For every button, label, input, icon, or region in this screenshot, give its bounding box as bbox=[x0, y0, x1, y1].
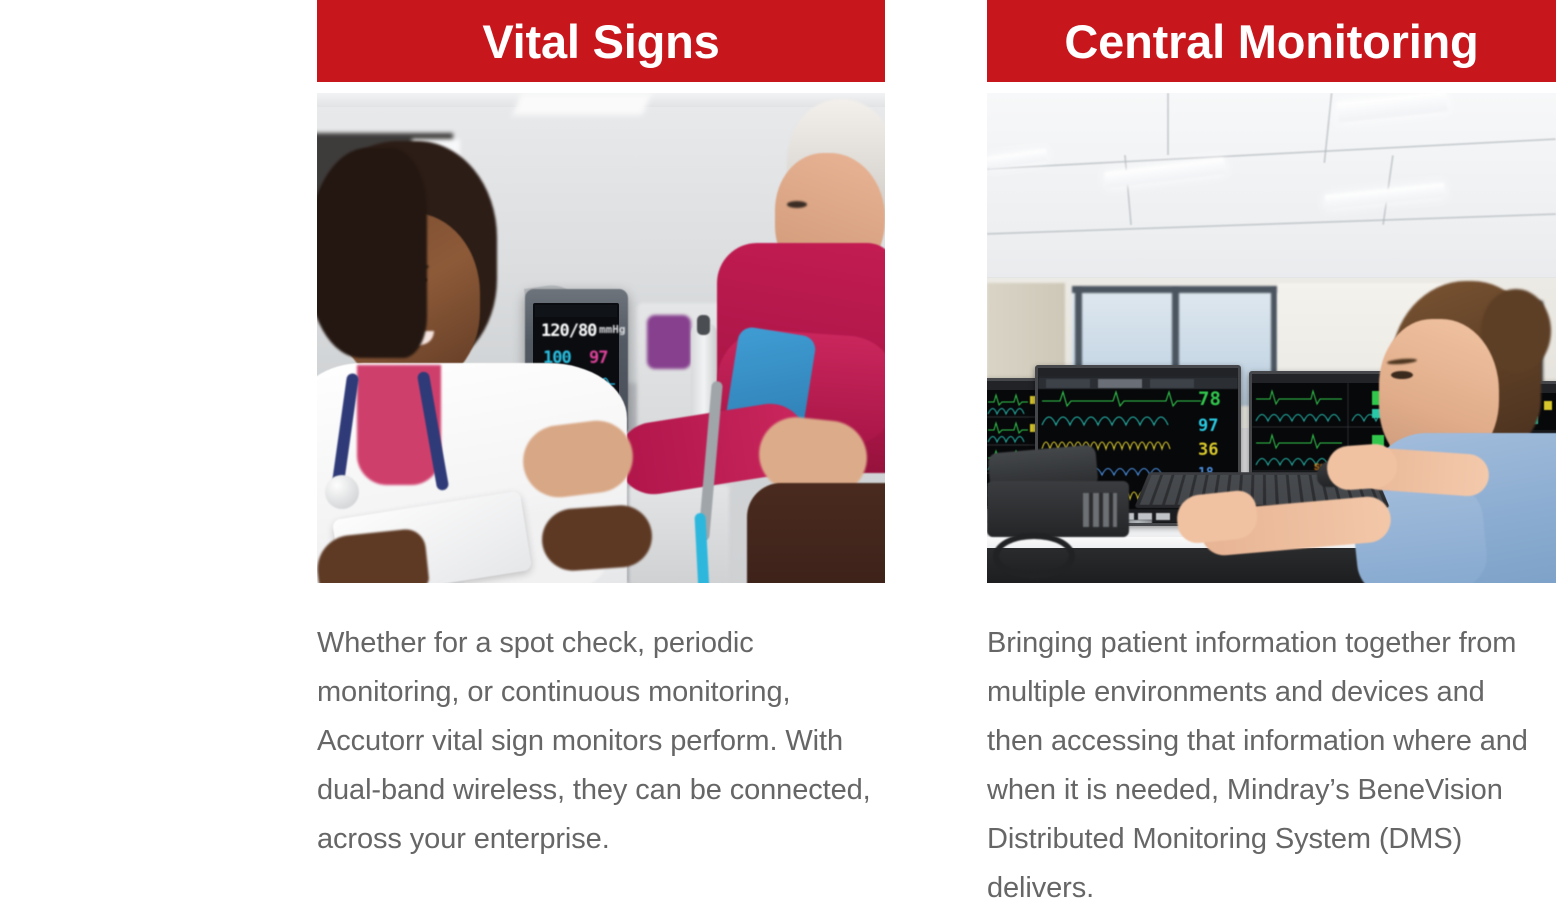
card-central-monitoring: Central Monitoring bbox=[987, 0, 1556, 913]
patient-eye bbox=[787, 201, 807, 208]
desk-phone-cord bbox=[993, 533, 1075, 579]
photo-vital-signs: 120/80 mmHg 100 97 98.6 bbox=[317, 93, 885, 583]
svg-text:78: 78 bbox=[1198, 388, 1221, 410]
nurse-eye bbox=[1391, 371, 1413, 379]
card-header-vital-signs: Vital Signs bbox=[317, 0, 885, 82]
clinician-hair-front bbox=[317, 148, 427, 358]
monitor-title-bar bbox=[1038, 368, 1238, 377]
reading-blood-pressure: 120/80 bbox=[541, 321, 601, 341]
ceiling-tile-line bbox=[1167, 93, 1169, 155]
card-vital-signs: Vital Signs 120/80 mm bbox=[317, 0, 885, 864]
card-title: Central Monitoring bbox=[1064, 18, 1478, 65]
reading-bp-unit: mmHg bbox=[599, 323, 619, 337]
thermometer-tip-icon bbox=[697, 315, 710, 335]
monitor-status-bar bbox=[535, 305, 617, 317]
nurse-hand-on-mouse bbox=[1326, 443, 1399, 492]
desk-phone-keypad bbox=[1083, 493, 1117, 527]
svg-text:36: 36 bbox=[1198, 440, 1218, 460]
card-title: Vital Signs bbox=[482, 18, 719, 65]
page-root: Vital Signs 120/80 mm bbox=[0, 0, 1556, 920]
card-header-central-monitoring: Central Monitoring bbox=[987, 0, 1556, 82]
header-photo-gap bbox=[987, 82, 1556, 93]
patient-lap-trousers bbox=[747, 483, 885, 583]
purple-device-cover bbox=[647, 315, 691, 369]
clinician-hand-handshake bbox=[540, 503, 654, 573]
photo-central-monitoring: 78 97 36 18 19 bbox=[987, 93, 1556, 583]
header-photo-gap bbox=[317, 82, 885, 93]
stethoscope-chestpiece-icon bbox=[325, 475, 359, 509]
card-body-text: Bringing patient information together fr… bbox=[987, 619, 1547, 913]
reading-spo2: 97 bbox=[589, 349, 621, 367]
svg-text:97: 97 bbox=[1198, 416, 1218, 436]
ceiling-light-strip bbox=[513, 93, 652, 115]
card-body-text: Whether for a spot check, periodic monit… bbox=[317, 619, 873, 864]
